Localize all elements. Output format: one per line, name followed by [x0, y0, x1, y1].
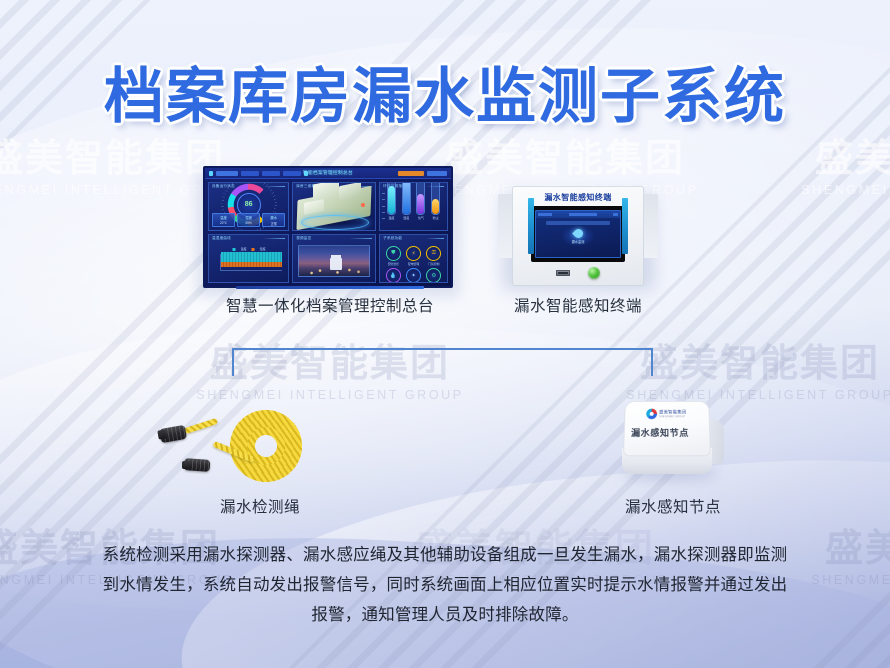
water-drop-icon	[572, 227, 585, 240]
terminal-screen-text: 漏水监测	[572, 239, 585, 244]
deco-frame-vertical-right	[651, 348, 653, 376]
bar-track	[387, 182, 396, 215]
model-glow-ring	[301, 215, 369, 230]
rope-connector-upper-tip	[157, 429, 166, 439]
subsystem-badge[interactable]: ⛊ 安防监控	[386, 246, 401, 266]
subsystem-badge[interactable]: ✦ 通风除湿	[406, 268, 421, 283]
product-node: 盛美智能集团 SHENGMEI GROUP 漏水感知节点	[614, 400, 728, 490]
bar-label: 温度	[389, 216, 395, 220]
description-paragraph: 系统检测采用漏水探测器、漏水感应绳及其他辅助设备组成一旦发生漏水，漏水探测器即监…	[95, 540, 795, 630]
panel-video-title: 视频监控	[296, 236, 372, 241]
terminal-accent-strip-left	[528, 198, 534, 254]
gauge-stat-item[interactable]: 温度 22℃	[212, 213, 235, 227]
water-drop-icon: 💧	[386, 268, 401, 283]
gauge-stat-item[interactable]: 湿度 55%	[237, 213, 260, 227]
header-chip-1[interactable]	[216, 171, 238, 176]
terminal-wing-right	[642, 194, 658, 258]
terminal-ui-header	[536, 211, 620, 218]
legend-label-temp: 温度	[241, 247, 247, 251]
legend-label-humidity: 湿度	[260, 247, 266, 251]
subsystem-label: 配电管理	[408, 262, 419, 266]
node-logo-cn: 盛美智能集团	[659, 410, 686, 415]
subsystem-badge[interactable]: 💧 漏水监测	[386, 268, 401, 283]
header-user-chip[interactable]	[427, 171, 447, 176]
bar-track	[431, 182, 440, 215]
area-band-humidity	[221, 262, 282, 267]
gauge-stat-label: 湿度	[245, 215, 252, 220]
legend-swatch-humidity-icon	[252, 248, 255, 251]
panel-area-chart: 温湿度曲线 温度 湿度	[208, 234, 289, 283]
terminal-accent-strip-right	[622, 198, 628, 254]
node-logo-en: SHENGMEI GROUP	[659, 415, 686, 418]
terminal-screen-ui: 漏水监测	[535, 210, 621, 258]
terminal-ui-chip-right[interactable]	[613, 213, 618, 217]
archive-room-3d-model[interactable]	[295, 182, 373, 231]
area-band-temp	[221, 252, 282, 262]
subsystem-badge[interactable]: ⚙ 系统设置	[426, 268, 441, 283]
bar-track	[416, 182, 425, 215]
bar-track	[402, 182, 411, 215]
header-alert-chip[interactable]	[398, 171, 424, 176]
subsystem-label: 门禁控制	[428, 262, 439, 266]
product-rope	[160, 405, 350, 490]
node-brand-logo: 盛美智能集团 SHENGMEI GROUP	[646, 409, 686, 420]
panel-subsystems-title: 子系统功能	[383, 236, 444, 241]
bar-fill	[432, 199, 439, 214]
bar-label: 湿度	[403, 216, 409, 220]
panel-device-model: 库房三维模型	[292, 182, 376, 231]
subsystem-badge[interactable]: ⚿ 门禁控制	[426, 246, 441, 266]
area-chart: 温度 湿度	[214, 246, 284, 277]
model-alert-dot-icon	[361, 203, 365, 207]
subsystem-badge-grid: ⛊ 安防监控 ⚡ 配电管理 ⚿ 门禁控制	[384, 246, 443, 278]
rope-coil-inner	[217, 421, 315, 471]
panel-area-title: 温湿度曲线	[212, 236, 285, 241]
bar-chart: 温度 湿度	[384, 193, 443, 220]
dashboard-body: 设备运行状态 86 温度 22℃ 湿度	[205, 179, 451, 286]
header-chip-3[interactable]	[262, 171, 280, 176]
bar-label: 氧气	[418, 216, 424, 220]
product-console: 智能档案管理控制总台 设备运行状态 86 温度	[203, 166, 453, 288]
gauge-stat-value: 55%	[245, 221, 251, 225]
city-night-photo[interactable]	[298, 245, 370, 277]
bar-fill	[403, 182, 410, 214]
deco-frame-vertical	[232, 348, 234, 376]
deco-frame-horizontal	[232, 348, 652, 350]
node-logo-text: 盛美智能集团 SHENGMEI GROUP	[659, 410, 686, 419]
terminal-status-block: 漏水监测	[561, 225, 595, 247]
node-device-label: 漏水感知节点	[624, 426, 697, 439]
terminal-ui-chip-center[interactable]	[569, 213, 597, 217]
panel-subsystems: 子系统功能 ⛊ 安防监控 ⚡ 配电管理 ⚿	[379, 234, 448, 283]
shield-icon: ⛊	[386, 246, 401, 261]
page-title: 档案库房漏水监测子系统	[0, 48, 890, 135]
header-chip-2[interactable]	[241, 171, 259, 176]
caption-rope: 漏水检测绳	[175, 495, 345, 517]
terminal-screen[interactable]: 漏水监测	[531, 206, 625, 262]
header-dot-icon	[209, 171, 213, 176]
product-terminal: 漏水智能感知终端 漏水监测	[498, 186, 658, 286]
gauge-stat-label: 温度	[220, 215, 227, 220]
caption-console: 智慧一体化档案管理控制总台	[180, 294, 480, 316]
subsystem-badge[interactable]: ⚡ 配电管理	[406, 246, 421, 266]
dashboard-header: 智能档案管理控制总台	[205, 168, 451, 179]
bar-column: 粉尘	[432, 182, 439, 220]
lightning-icon: ⚡	[406, 246, 421, 261]
node-top-face: 盛美智能集团 SHENGMEI GROUP 漏水感知节点	[623, 401, 711, 456]
bar-fill	[388, 186, 395, 213]
area-plot	[220, 254, 282, 271]
bar-column: 温度	[388, 182, 395, 220]
gauge-stat-row: 温度 22℃ 湿度 55% 漏水 正常	[209, 213, 288, 227]
dashboard-title: 智能档案管理控制总台	[303, 170, 353, 176]
lock-icon: ⚿	[426, 246, 441, 261]
legend-swatch-temp-icon	[233, 248, 236, 251]
gear-icon: ⚙	[426, 268, 441, 283]
console-screen: 智能档案管理控制总台 设备运行状态 86 温度	[203, 166, 453, 288]
panel-video-monitor: 视频监控	[292, 234, 376, 283]
rope-connector-lower-tip	[182, 461, 190, 469]
fan-icon: ✦	[406, 268, 421, 283]
brand-mark-icon	[646, 409, 657, 420]
terminal-body: 漏水智能感知终端 漏水监测	[512, 186, 644, 286]
bar-column: 氧气	[417, 182, 424, 220]
building-overlay-icon	[330, 258, 342, 270]
poster-page: 盛美智能集团 SHENGMEI INTELLIGENT GROUP 盛美智能集团…	[0, 0, 890, 668]
area-legend: 温度 湿度	[233, 247, 266, 251]
bar-column: 湿度	[403, 182, 410, 220]
terminal-ui-chip-left[interactable]	[538, 213, 552, 217]
bar-label: 粉尘	[433, 216, 439, 220]
header-chip-4[interactable]	[283, 171, 301, 176]
caption-terminal: 漏水智能感知终端	[488, 294, 668, 316]
panel-bars: 环境监测指标 温度	[379, 182, 448, 231]
terminal-status-indicator[interactable]	[588, 267, 600, 279]
subsystem-label: 安防监控	[388, 262, 399, 266]
gauge-stat-item[interactable]: 漏水 正常	[262, 213, 285, 227]
terminal-port-connector	[556, 270, 570, 276]
console-caption-underline	[236, 286, 424, 289]
panel-gauge: 设备运行状态 86 温度 22℃ 湿度	[208, 182, 289, 231]
bars-axis	[382, 193, 383, 218]
bar-fill	[417, 194, 424, 214]
gauge-stat-label: 漏水	[270, 215, 277, 220]
caption-node: 漏水感知节点	[588, 495, 758, 517]
gauge-stat-value: 22℃	[220, 221, 227, 225]
gauge-stat-value: 正常	[270, 221, 276, 226]
